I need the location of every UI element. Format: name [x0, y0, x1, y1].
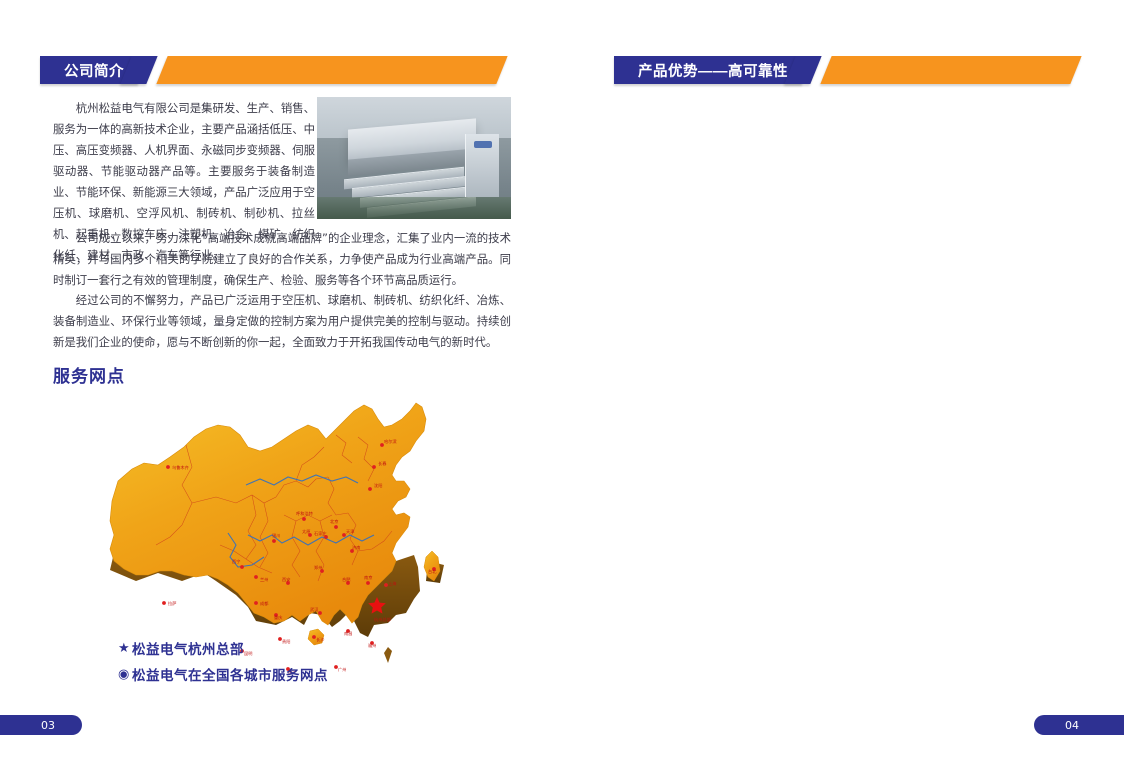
- svg-text:广州: 广州: [338, 666, 346, 673]
- legend-branch-label: 松益电气在全国各城市服务网点: [132, 664, 328, 684]
- legend-item-branches: ◉ 松益电气在全国各城市服务网点: [118, 664, 328, 684]
- photo-treeline: [317, 197, 511, 219]
- svg-text:拉萨: 拉萨: [168, 600, 176, 607]
- svg-text:乌鲁木齐: 乌鲁木齐: [172, 464, 190, 471]
- svg-text:沈阳: 沈阳: [374, 482, 382, 489]
- brochure-spread: 公司简介 杭州松益电气有限公司是集研发、生产、销售、服务为一体的高新技术企业，主…: [0, 0, 1124, 765]
- right-page: 产品优势——高可靠性 宽电压范围设计 额定电压：单相220V；三相220V/38…: [562, 0, 1124, 765]
- circle-dot-icon: ◉: [118, 666, 132, 682]
- banner-bar-right: 产品优势——高可靠性: [614, 56, 802, 84]
- map-south-islands: [384, 647, 392, 663]
- svg-text:长春: 长春: [378, 460, 387, 467]
- factory-photo: [317, 97, 511, 219]
- photo-tower: [465, 134, 499, 197]
- company-paragraph-2: 公司成立以来，努力深化“高端技术成就高端品牌”的企业理念，汇集了业内一流的技术精…: [53, 228, 511, 291]
- svg-text:太原: 太原: [302, 528, 310, 535]
- company-paragraph-3: 经过公司的不懈努力，产品已广泛运用于空压机、球磨机、制砖机、纺织化纤、冶炼、装备…: [53, 290, 511, 353]
- svg-text:北京: 北京: [330, 518, 338, 525]
- svg-text:郑州: 郑州: [314, 564, 322, 571]
- left-page: 公司简介 杭州松益电气有限公司是集研发、生产、销售、服务为一体的高新技术企业，主…: [0, 0, 562, 765]
- svg-text:济南: 济南: [352, 544, 360, 551]
- svg-text:合肥: 合肥: [342, 576, 351, 583]
- star-icon: ★: [118, 640, 132, 656]
- map-legend: ★ 松益电气杭州总部 ◉ 松益电气在全国各城市服务网点: [118, 638, 328, 690]
- service-network-title: 服务网点: [53, 362, 125, 387]
- svg-text:台北: 台北: [428, 568, 437, 575]
- page-number-left: 03: [0, 715, 82, 735]
- svg-text:南京: 南京: [364, 574, 372, 581]
- legend-hq-label: 松益电气杭州总部: [132, 638, 244, 658]
- right-section-banner: 产品优势——高可靠性: [614, 56, 1084, 84]
- svg-text:西宁: 西宁: [232, 558, 240, 565]
- svg-text:天津: 天津: [346, 528, 354, 535]
- svg-text:重庆: 重庆: [274, 614, 283, 621]
- svg-text:上海: 上海: [388, 580, 397, 587]
- svg-text:石家庄: 石家庄: [314, 530, 327, 537]
- svg-text:南昌: 南昌: [344, 630, 352, 637]
- svg-text:呼和浩特: 呼和浩特: [296, 510, 313, 517]
- svg-text:哈尔滨: 哈尔滨: [384, 438, 397, 445]
- svg-text:福州: 福州: [368, 642, 376, 649]
- svg-text:武汉: 武汉: [310, 606, 319, 613]
- page-number-right: 04: [1034, 715, 1124, 735]
- legend-item-hq: ★ 松益电气杭州总部: [118, 638, 328, 658]
- svg-text:西安: 西安: [282, 576, 290, 583]
- banner-orange-block: [156, 56, 507, 84]
- svg-text:兰州: 兰州: [260, 576, 268, 582]
- banner-orange-block-right: [820, 56, 1081, 84]
- spread-gutter: [561, 0, 562, 765]
- svg-text:成都: 成都: [260, 600, 269, 607]
- svg-text:银川: 银川: [272, 532, 280, 539]
- map-hq-label: 杭州总部: [374, 616, 391, 623]
- left-section-banner: 公司简介: [40, 56, 510, 84]
- right-section-title: 产品优势——高可靠性: [614, 60, 802, 81]
